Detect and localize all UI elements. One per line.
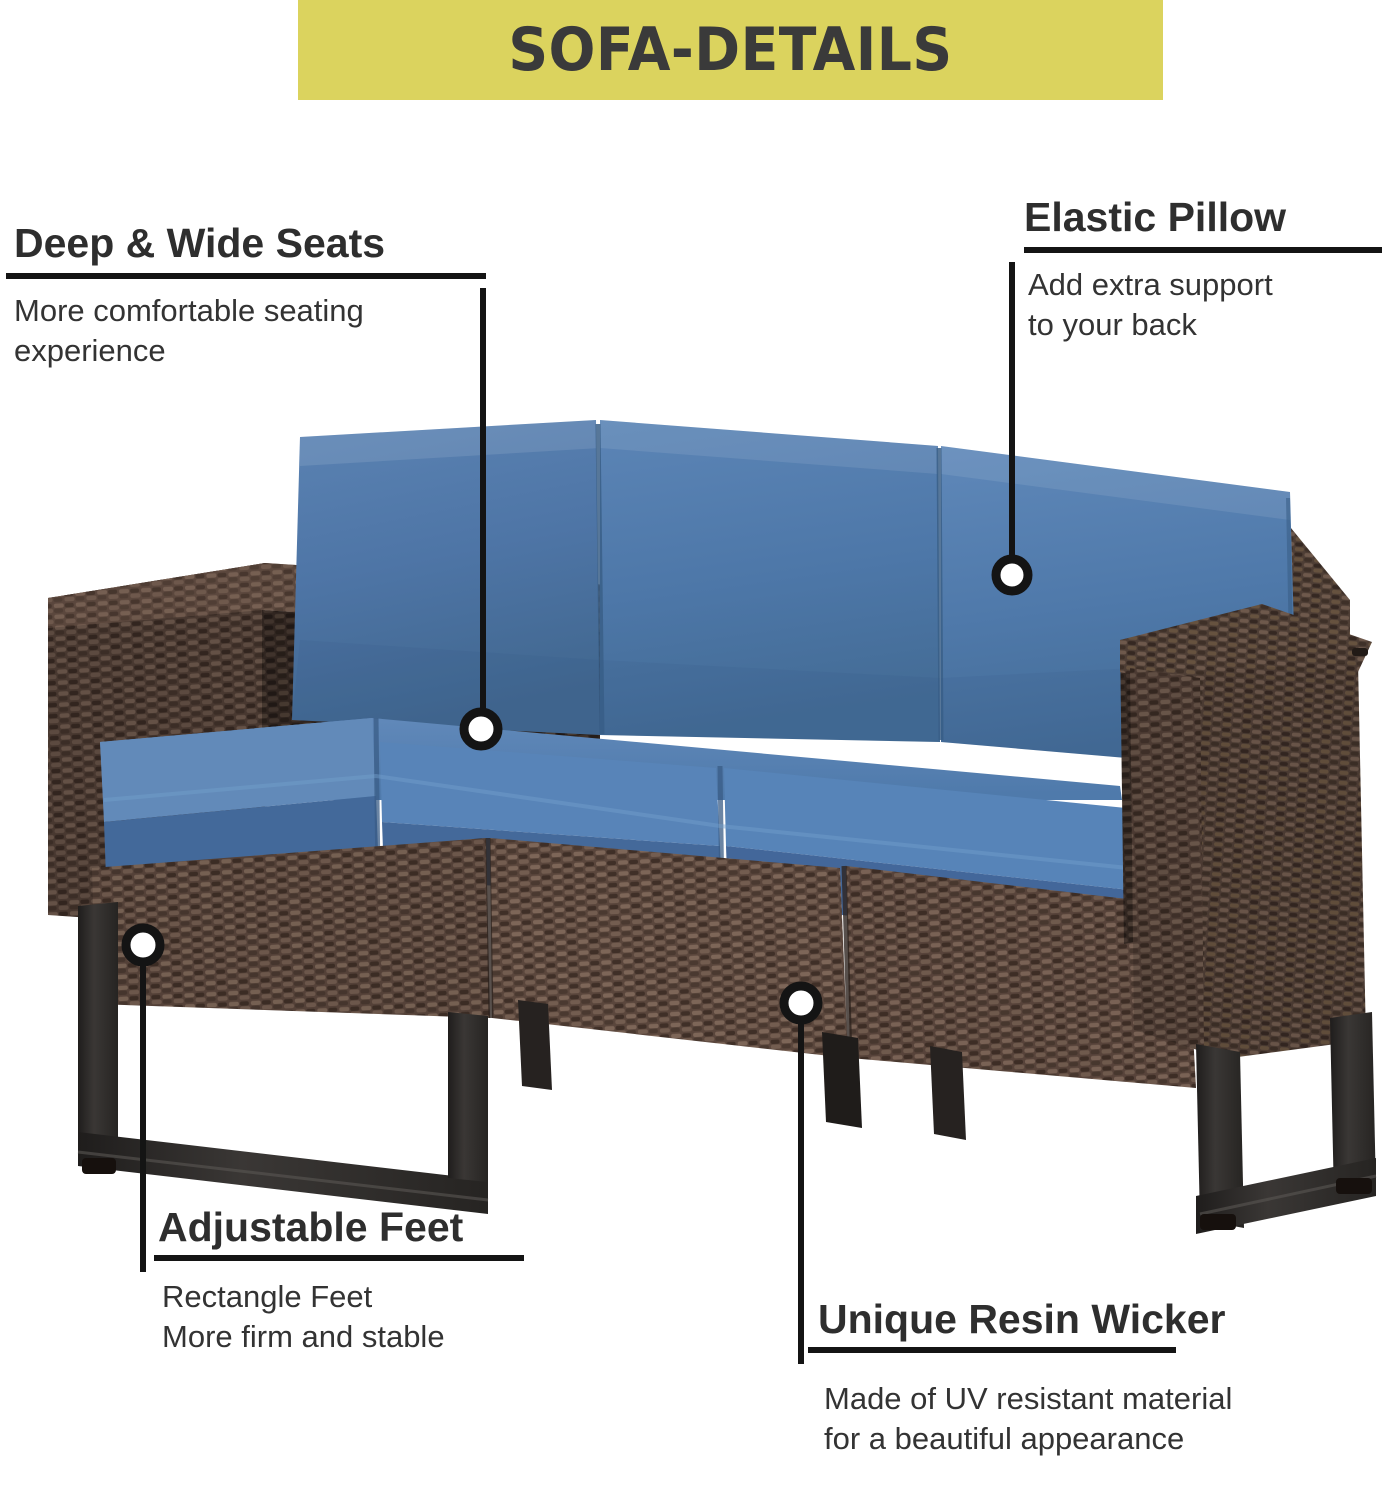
callout-adjustable-feet: Adjustable Feet Rectangle Feet More firm… xyxy=(140,1206,560,1358)
callout-body-elastic-pillow: Add extra support to your back xyxy=(1010,265,1382,346)
callout-title-unique-resin-wicker: Unique Resin Wicker xyxy=(798,1298,1358,1341)
callout-rule-elastic-pillow xyxy=(1024,247,1382,253)
callout-rule-deep-wide-seats xyxy=(6,273,486,279)
callout-deep-wide-seats: Deep & Wide Seats More comfortable seati… xyxy=(6,222,486,372)
callout-rule-adjustable-feet xyxy=(154,1255,524,1261)
callout-body-adjustable-feet: Rectangle Feet More firm and stable xyxy=(140,1277,560,1358)
callout-body-unique-resin-wicker: Made of UV resistant material for a beau… xyxy=(798,1379,1358,1460)
callout-title-adjustable-feet: Adjustable Feet xyxy=(140,1206,560,1249)
callout-title-deep-wide-seats: Deep & Wide Seats xyxy=(6,222,486,265)
callout-unique-resin-wicker: Unique Resin Wicker Made of UV resistant… xyxy=(798,1298,1358,1460)
callout-title-elastic-pillow: Elastic Pillow xyxy=(1010,196,1382,239)
callout-elastic-pillow: Elastic Pillow Add extra support to your… xyxy=(1010,196,1382,346)
callout-rule-unique-resin-wicker xyxy=(808,1347,1176,1353)
callout-body-deep-wide-seats: More comfortable seating experience xyxy=(6,291,486,372)
